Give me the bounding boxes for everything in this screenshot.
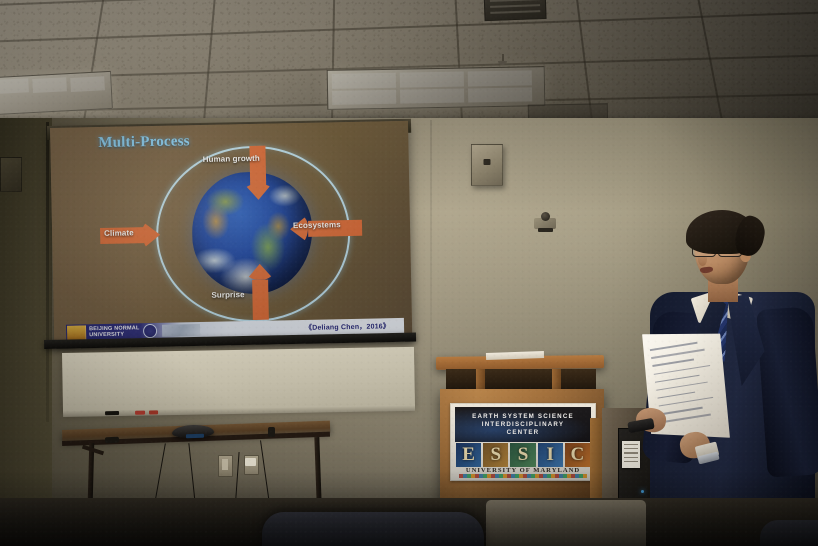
ceiling-vent bbox=[483, 0, 546, 21]
wall-seam bbox=[430, 120, 432, 420]
ceiling-light-panel-left bbox=[0, 71, 113, 115]
arrow-label-ecosystems: Ecosystems bbox=[293, 220, 341, 230]
essic-podium-sign: EARTH SYSTEM SCIENCE INTERDISCIPLINARY C… bbox=[450, 403, 596, 481]
video-conference-camera-icon bbox=[534, 212, 556, 232]
essic-letter-c: C bbox=[565, 443, 590, 467]
fire-sprinkler-icon bbox=[498, 54, 507, 65]
ceiling-tile-grid bbox=[0, 0, 818, 128]
essic-letter-i: I bbox=[538, 443, 563, 467]
essic-letter-e: E bbox=[456, 443, 481, 467]
podium-support-right bbox=[552, 369, 561, 391]
whiteboard-marker-red-2[interactable] bbox=[149, 410, 158, 414]
slide-title: Multi-Process bbox=[98, 133, 190, 152]
sign-line-3: CENTER bbox=[507, 429, 540, 437]
sign-line-2: INTERDISCIPLINARY bbox=[482, 421, 564, 429]
speaker-grille-dot bbox=[484, 159, 491, 165]
whiteboard-marker-black[interactable] bbox=[105, 411, 119, 415]
podium-shelf bbox=[446, 369, 596, 389]
arrow-surprise bbox=[246, 264, 275, 321]
power-plug bbox=[245, 458, 256, 466]
wall-corner-edge bbox=[46, 122, 49, 422]
bnu-gate-logo-icon bbox=[67, 325, 86, 340]
foreground-counter bbox=[486, 500, 646, 546]
light-switch-toggle[interactable] bbox=[222, 459, 228, 470]
speakerphone-display bbox=[186, 434, 204, 439]
bnu-seal-icon bbox=[143, 324, 157, 338]
foreground-chair bbox=[262, 512, 484, 546]
whiteboard bbox=[62, 347, 415, 413]
wall-speaker-icon bbox=[471, 144, 503, 186]
presenter bbox=[620, 196, 818, 546]
essic-acronym: E S S I C bbox=[456, 443, 590, 467]
ceiling-texture bbox=[0, 0, 818, 128]
podium-body: EARTH SYSTEM SCIENCE INTERDISCIPLINARY C… bbox=[440, 389, 604, 505]
ceiling bbox=[0, 0, 818, 128]
arrow-label-climate: Climate bbox=[104, 228, 134, 238]
essic-letter-s2: S bbox=[510, 443, 535, 467]
projected-slide: Multi-Process Human growth Ecosystems Su… bbox=[50, 121, 412, 346]
light-switch-plate[interactable] bbox=[218, 455, 233, 477]
essic-letter-s1: S bbox=[483, 443, 508, 467]
sign-color-strip bbox=[459, 474, 587, 478]
podium-support-left bbox=[476, 369, 485, 391]
projection-screen: Multi-Process Human growth Ecosystems Su… bbox=[50, 121, 412, 346]
sign-header: EARTH SYSTEM SCIENCE INTERDISCIPLINARY C… bbox=[455, 407, 591, 442]
table-small-device[interactable] bbox=[105, 437, 119, 444]
bnu-name: BEIJING NORMAL UNIVERSITY bbox=[89, 325, 140, 338]
suit-arm-right bbox=[756, 306, 818, 477]
sign-line-1: EARTH SYSTEM SCIENCE bbox=[472, 413, 574, 421]
whiteboard-marker-red[interactable] bbox=[135, 411, 145, 415]
left-wall-speaker-icon bbox=[0, 157, 22, 192]
table-cable-coil bbox=[268, 427, 275, 437]
arrow-label-surprise: Surprise bbox=[211, 290, 244, 300]
ceiling-light-panel-center bbox=[327, 66, 546, 110]
campus-thumbnail-image bbox=[162, 324, 200, 337]
lecture-room-photo: Multi-Process Human growth Ecosystems Su… bbox=[0, 0, 818, 546]
foreground-chair-right bbox=[760, 520, 818, 546]
sign-university-line: UNIVERSITY OF MARYLAND bbox=[451, 467, 595, 474]
arrow-label-human-growth: Human growth bbox=[203, 154, 260, 164]
slide-citation: 《Deliang Chen，2016》 bbox=[305, 321, 390, 333]
